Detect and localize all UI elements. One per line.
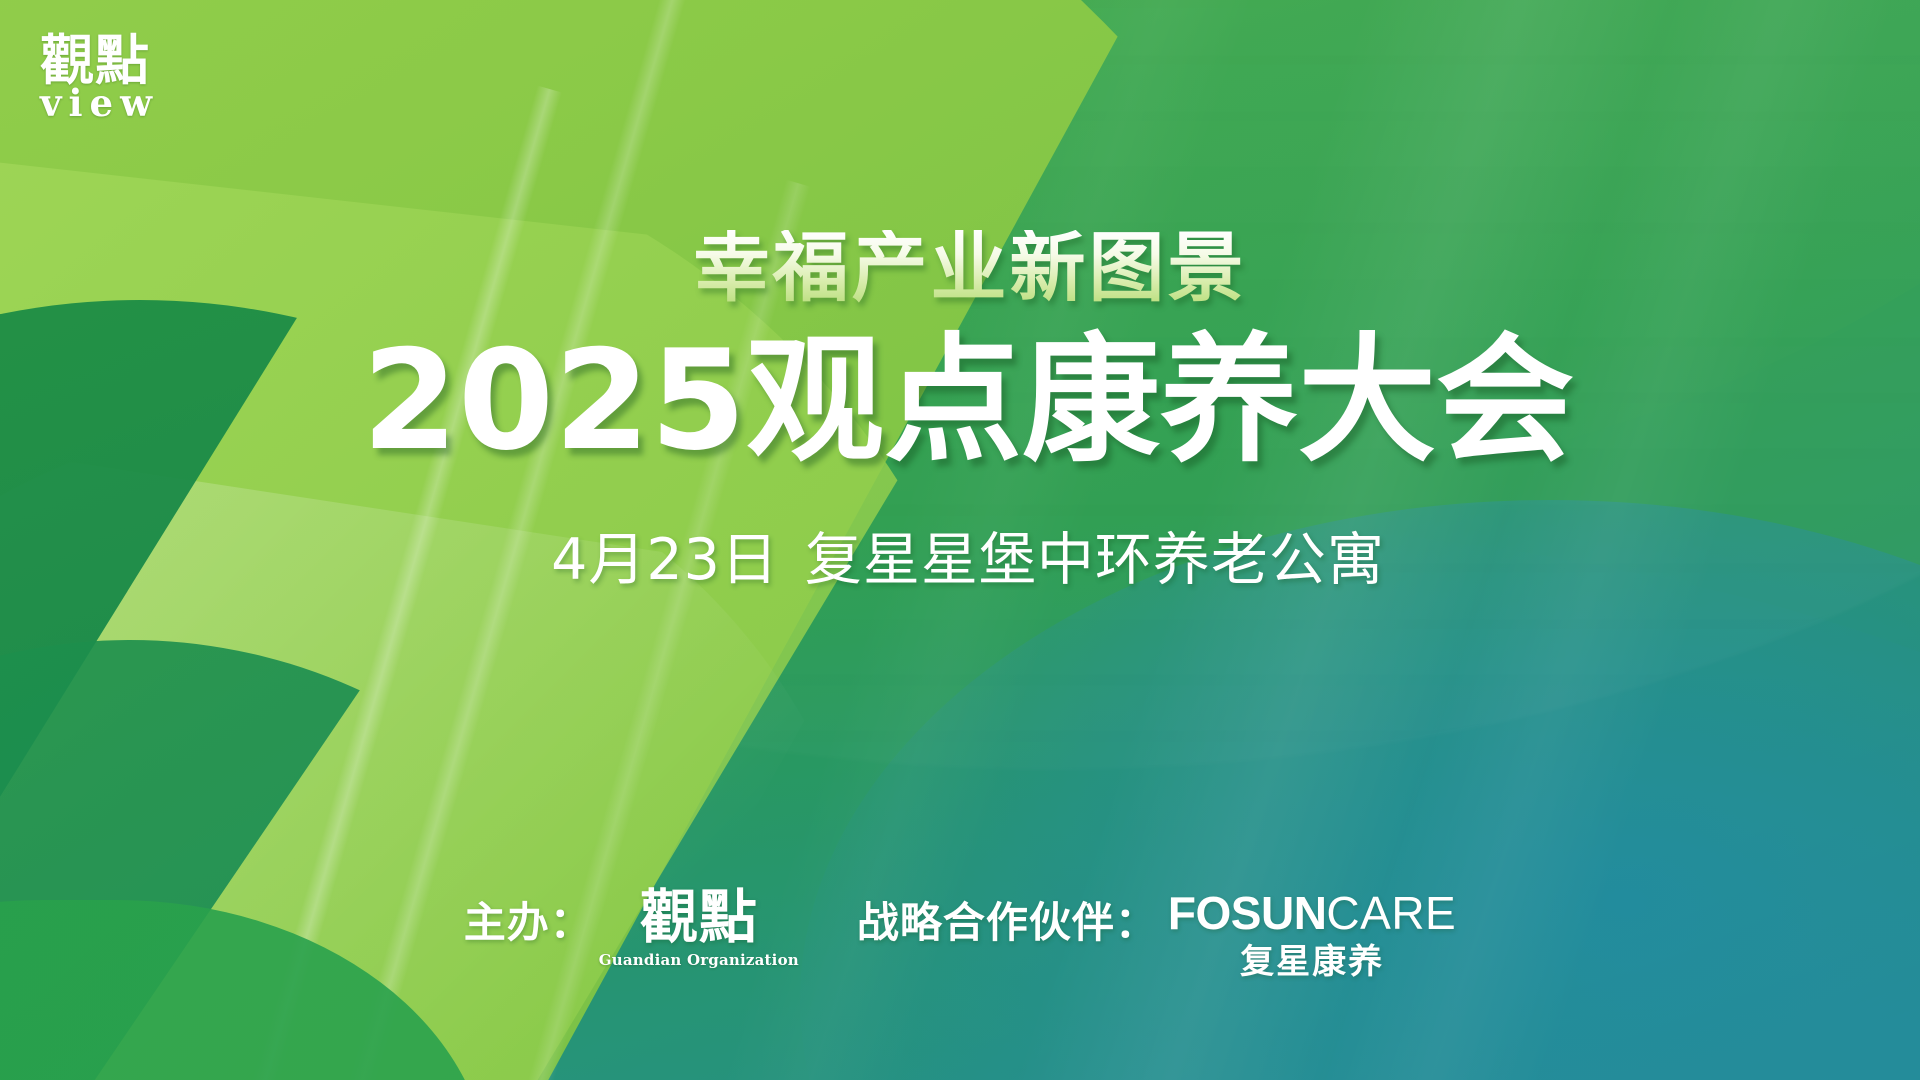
fosun-care-logo-cn: 复星康养 xyxy=(1168,945,1456,979)
brand-logo-en: view xyxy=(40,85,210,122)
event-date: 4月23日 xyxy=(551,527,779,593)
teal-band-shape xyxy=(0,520,1920,1080)
organizer-block: 主办： 觀點 Guandian Organization xyxy=(464,888,799,968)
brand-logo-cn: 觀點 xyxy=(40,34,210,87)
poster-main-content: 幸福产业新图景 2025观点康养大会 4月23日复星星堡中环养老公寓 xyxy=(0,0,1920,589)
brand-logo[interactable]: 觀點 view xyxy=(40,34,210,122)
partner-block: 战略合作伙伴： FOSUNCARE 复星康养 xyxy=(857,888,1456,979)
event-info: 4月23日复星星堡中环养老公寓 xyxy=(0,532,1920,589)
fosun-care-logo-en: FOSUNCARE xyxy=(1168,890,1456,936)
fosun-wordmark: FOSUN xyxy=(1168,887,1327,939)
conference-poster: 觀點 view 幸福产业新图景 2025观点康养大会 4月23日复星星堡中环养老… xyxy=(0,0,1920,1080)
guandian-logo-en: Guandian Organization xyxy=(599,953,799,968)
partner-label: 战略合作伙伴： xyxy=(857,888,1158,944)
guandian-logo-cn: 觀點 xyxy=(599,888,799,946)
poster-title: 2025观点康养大会 xyxy=(0,328,1920,474)
fosun-care-logo[interactable]: FOSUNCARE 复星康养 xyxy=(1168,888,1456,979)
sponsor-row: 主办： 觀點 Guandian Organization 战略合作伙伴： FOS… xyxy=(0,888,1920,979)
organizer-label: 主办： xyxy=(464,888,593,944)
care-wordmark: CARE xyxy=(1326,887,1456,939)
event-venue: 复星星堡中环养老公寓 xyxy=(805,527,1385,593)
teal-wedge-shape xyxy=(0,640,680,1080)
poster-subtitle: 幸福产业新图景 xyxy=(0,230,1920,306)
guandian-logo[interactable]: 觀點 Guandian Organization xyxy=(599,888,799,968)
